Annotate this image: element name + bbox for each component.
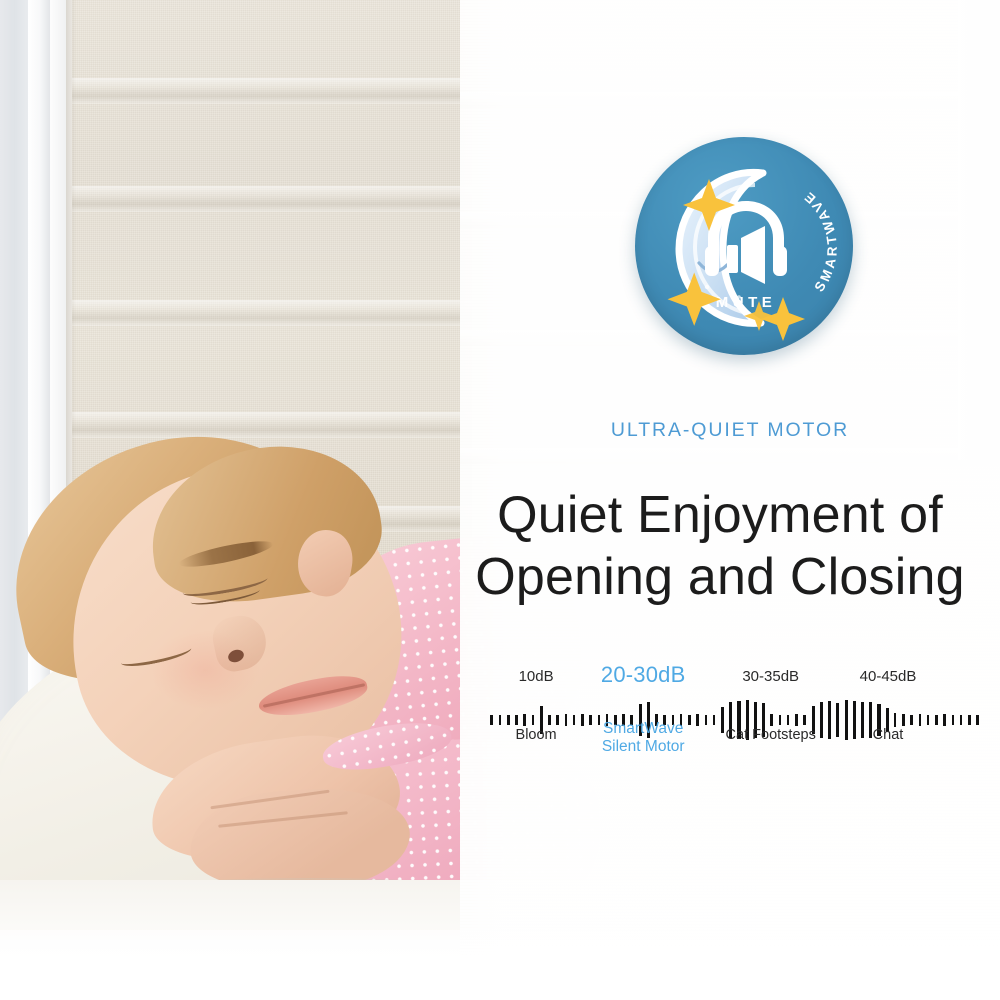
headphones-mute-icon xyxy=(705,201,787,284)
waveform-bar xyxy=(828,701,831,739)
chart-category-label: Bloom xyxy=(516,726,557,744)
waveform-bar xyxy=(845,700,848,740)
waveform-bar xyxy=(499,715,502,725)
waveform-bar xyxy=(598,715,601,725)
waveform-bar xyxy=(795,714,798,725)
waveform-bar xyxy=(919,714,922,726)
chart-category-labels: BloomSmartWaveSilent MotorCat FootstepsC… xyxy=(480,668,990,669)
headline-line-2: Opening and Closing xyxy=(440,546,1000,608)
chart-value-label: 30-35dB xyxy=(742,668,799,685)
waveform-bar xyxy=(565,714,568,725)
headline-line-1: Quiet Enjoyment of xyxy=(440,484,1000,546)
waveform-bar xyxy=(581,714,584,726)
waveform-bar xyxy=(820,702,823,738)
waveform-bar xyxy=(894,713,897,727)
waveform-bar xyxy=(589,715,592,726)
bottom-white-band xyxy=(0,930,1000,1000)
chart-value-label: 20-30dB xyxy=(601,662,686,688)
smartwave-mute-badge: MUTE SMARTWAVE xyxy=(635,137,853,355)
waveform-bar xyxy=(910,715,913,725)
waveform-bar xyxy=(523,714,526,725)
waveform-bar xyxy=(490,715,493,725)
waveform-bar xyxy=(779,715,782,726)
chart-value-label: 10dB xyxy=(519,668,554,685)
waveform-bar xyxy=(976,715,979,725)
waveform-bar xyxy=(803,715,806,725)
page-title: Quiet Enjoyment of Opening and Closing xyxy=(440,484,1000,608)
chart-category-label: SmartWaveSilent Motor xyxy=(602,720,685,756)
waveform-bar xyxy=(548,715,551,726)
waveform-bar xyxy=(787,715,790,725)
noise-level-chart: 10dB20-30dB30-35dB40-45dB BloomSmartWave… xyxy=(480,668,990,798)
waveform-bar xyxy=(573,715,576,725)
waveform-bar xyxy=(853,701,856,739)
chart-category-label: Chat xyxy=(873,726,904,744)
waveform-bar xyxy=(770,714,773,726)
waveform-bar xyxy=(713,715,716,725)
blind-fold xyxy=(72,78,472,104)
waveform-bar xyxy=(861,702,864,737)
waveform-bar xyxy=(935,715,938,725)
chart-category-label: Cat Footsteps xyxy=(726,726,816,744)
waveform-bar xyxy=(705,715,708,726)
waveform-bar xyxy=(952,715,955,725)
product-feature-banner: MUTE SMARTWAVE ULTRA-QUIET MOTOR Quiet E… xyxy=(0,0,1000,1000)
waveform-bar xyxy=(721,707,724,733)
waveform-bar xyxy=(902,714,905,725)
waveform-bar xyxy=(696,714,699,726)
badge-mute-text: MUTE xyxy=(716,294,777,311)
blind-fold xyxy=(72,300,472,326)
waveform-bar xyxy=(532,715,535,725)
waveform-bar xyxy=(927,715,930,726)
eyebrow-label: ULTRA-QUIET MOTOR xyxy=(460,419,1000,442)
waveform-bar xyxy=(960,715,963,725)
waveform-bar xyxy=(943,714,946,725)
waveform-bar xyxy=(968,715,971,726)
waveform-bar xyxy=(688,715,691,725)
blind-fold xyxy=(72,412,472,438)
waveform-bar xyxy=(556,715,559,725)
waveform-bar xyxy=(515,715,518,725)
badge-arc-text: SMARTWAVE xyxy=(799,187,839,294)
chart-value-label: 40-45dB xyxy=(860,668,917,685)
waveform-bar xyxy=(836,703,839,737)
blind-fold xyxy=(72,186,472,212)
waveform-bar xyxy=(507,715,510,726)
